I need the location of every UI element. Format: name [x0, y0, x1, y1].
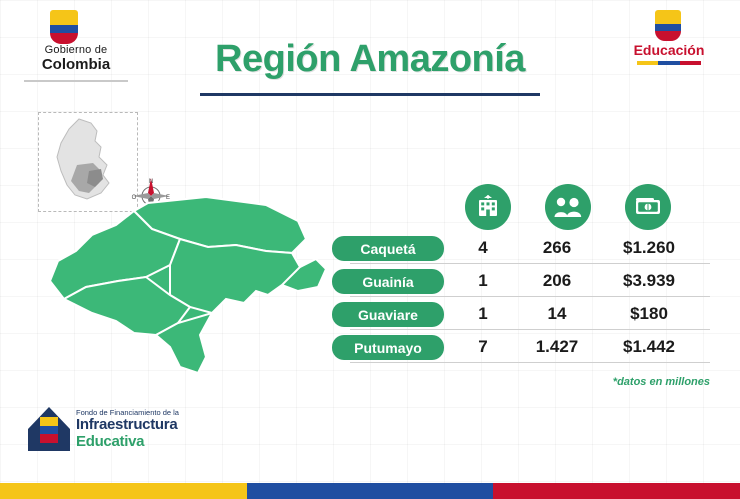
- flag-stripe-blue: [247, 483, 494, 499]
- gov-logo-divider: [24, 80, 128, 82]
- table-row: Putumayo 7 1.427 $1.442: [332, 335, 712, 364]
- flag-accent-bars: [637, 61, 701, 65]
- sedes-value: 4: [452, 238, 514, 258]
- inversion-value: $1.260: [594, 238, 704, 258]
- inversion-value: $180: [594, 304, 704, 324]
- ffie-logo-text: Fondo de Financiamiento de la Infraestru…: [76, 409, 218, 450]
- row-divider: [350, 362, 710, 363]
- estudiantes-value: 1.427: [522, 337, 592, 357]
- department-name: Guainía: [332, 269, 444, 294]
- ffie-logo-icon: [28, 407, 70, 451]
- flag-stripe-red: [493, 483, 740, 499]
- colombia-flag-bar: [0, 483, 740, 499]
- page-title-block: Región Amazonía: [170, 38, 570, 96]
- sedes-value: 1: [452, 304, 514, 324]
- row-divider: [350, 329, 710, 330]
- table-row: Guainía 1 206 $3.939: [332, 269, 712, 298]
- ministry-shield-icon: [655, 10, 681, 41]
- estudiantes-value: 14: [522, 304, 592, 324]
- gov-logo-text: Gobierno de Colombia: [16, 45, 136, 73]
- title-underline: [200, 93, 540, 96]
- poster-canvas: Gobierno de Colombia Educación Región Am…: [0, 0, 740, 499]
- inversion-value: $1.442: [594, 337, 704, 357]
- students-group-icon: [545, 184, 591, 230]
- stat-icons-row: [455, 184, 710, 232]
- ffie-line2: Infraestructura: [76, 417, 218, 434]
- table-footnote: *datos en millones: [332, 376, 710, 388]
- colombia-shield-icon: [50, 10, 78, 44]
- row-divider: [350, 263, 710, 264]
- table-row: Guaviare 1 14 $180: [332, 302, 712, 331]
- table-row: Caquetá 4 266 $1.260: [332, 236, 712, 265]
- school-building-icon: [465, 184, 511, 230]
- ffie-logo: Fondo de Financiamiento de la Infraestru…: [28, 405, 218, 457]
- estudiantes-value: 206: [522, 271, 592, 291]
- gobierno-de-colombia-logo: Gobierno de Colombia: [16, 10, 136, 72]
- svg-text:N: N: [149, 179, 153, 185]
- department-stats-table: Caquetá 4 266 $1.260 Guainía 1 206 $3.93…: [332, 236, 712, 368]
- department-name: Caquetá: [332, 236, 444, 261]
- educacion-logo: Educación: [614, 10, 724, 68]
- flag-stripe-yellow: [0, 483, 247, 499]
- inversion-value: $3.939: [594, 271, 704, 291]
- department-name: Putumayo: [332, 335, 444, 360]
- gov-logo-line2: Colombia: [16, 57, 136, 73]
- sedes-value: 7: [452, 337, 514, 357]
- region-amazonia-map: [30, 195, 340, 410]
- sedes-value: 1: [452, 271, 514, 291]
- estudiantes-value: 266: [522, 238, 592, 258]
- region-map-svg: [30, 195, 340, 410]
- ffie-line3: Educativa: [76, 434, 218, 451]
- educacion-label: Educación: [614, 42, 724, 58]
- money-bag-icon: [625, 184, 671, 230]
- department-name: Guaviare: [332, 302, 444, 327]
- page-title: Región Amazonía: [170, 38, 570, 81]
- row-divider: [350, 296, 710, 297]
